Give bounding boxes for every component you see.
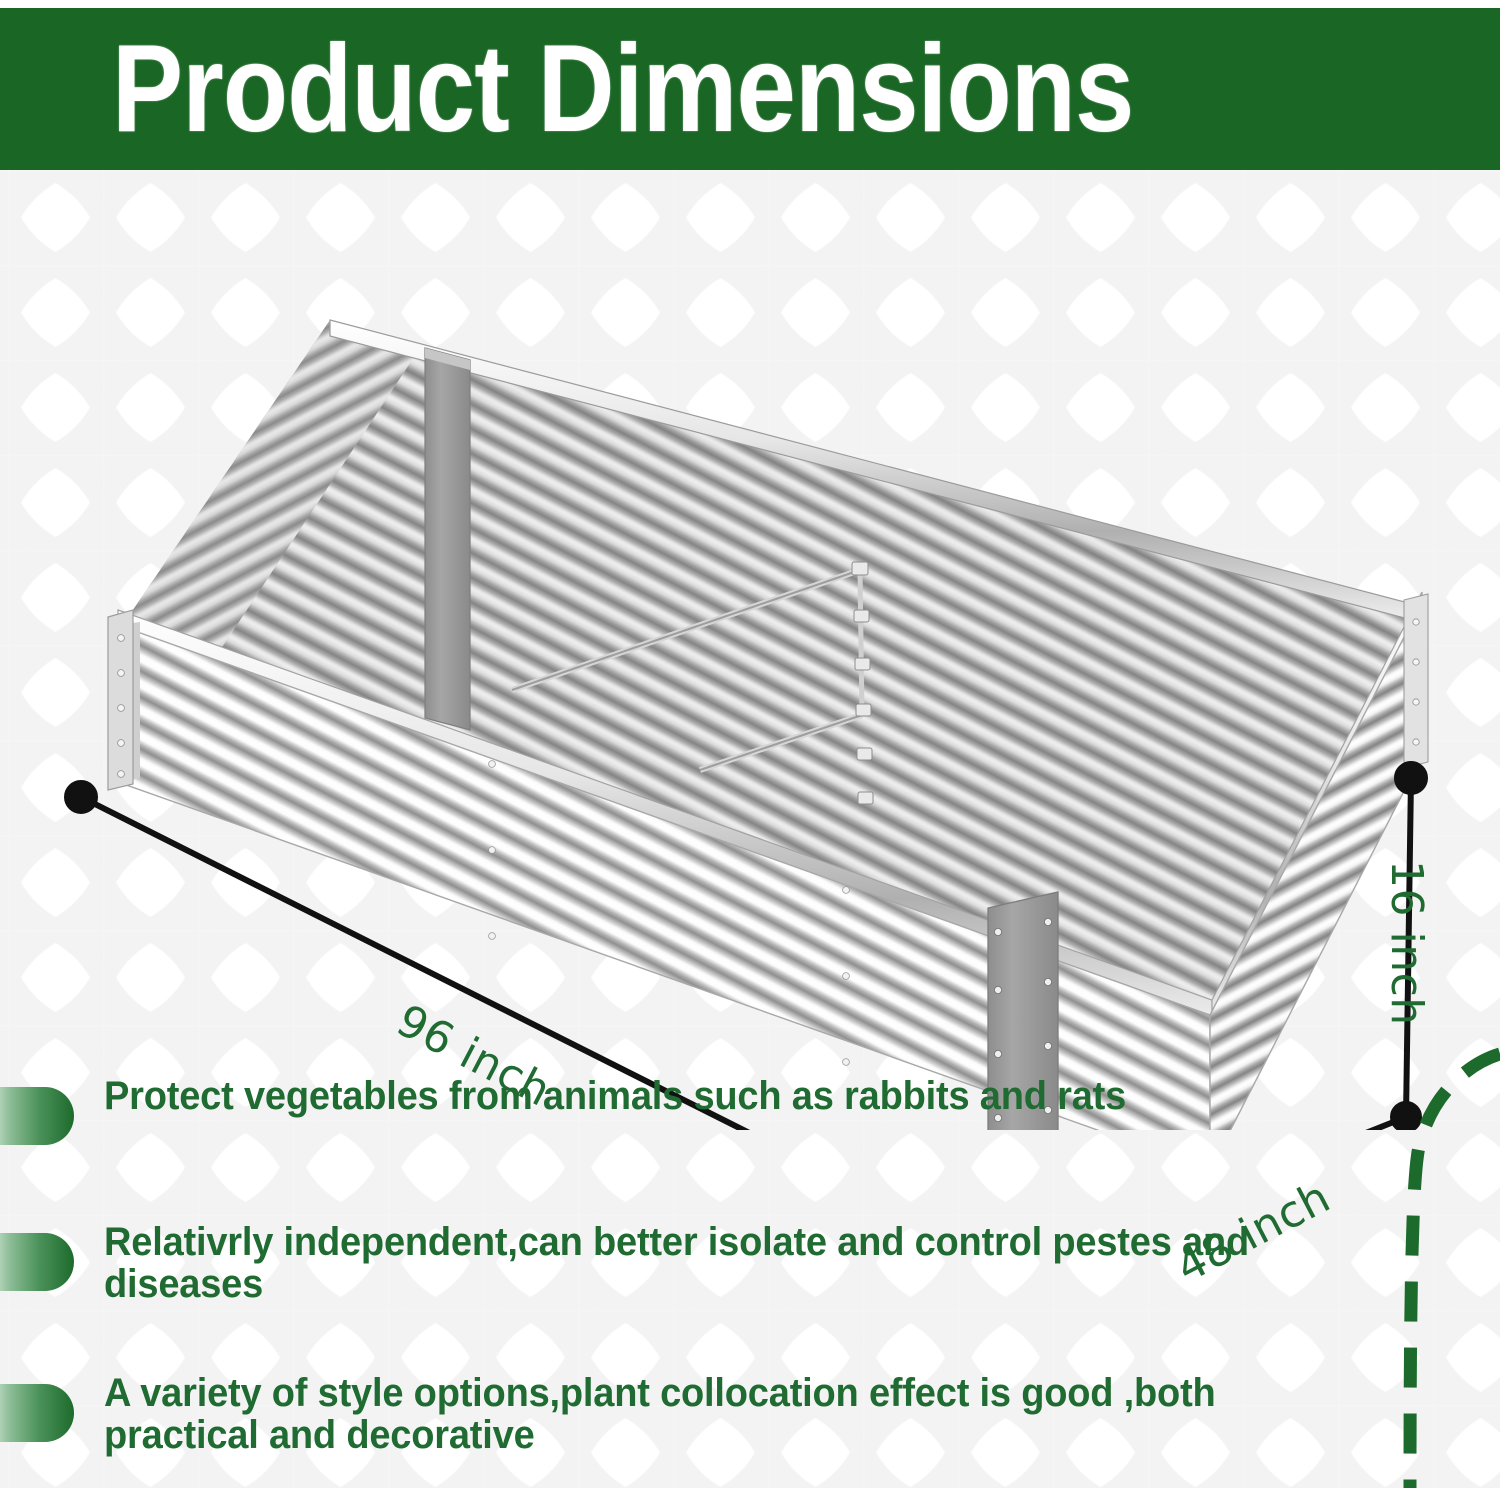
feature-text-3: A variety of style options,plant colloca… [104, 1372, 1326, 1457]
left-corner-post [108, 610, 133, 790]
product-dimensions-infographic: Product Dimensions [0, 0, 1500, 1488]
raised-garden-bed-drawing [0, 170, 1500, 1130]
header-banner: Product Dimensions [0, 8, 1500, 170]
dimension-label-height: 16 inch [1381, 860, 1432, 1026]
bullet-marker-icon [0, 1087, 74, 1145]
dimension-endpoint-length-start [67, 783, 95, 811]
feature-text-1: Protect vegetables from animals such as … [104, 1075, 1326, 1117]
feature-item-2: Relativrly independent,can better isolat… [0, 1221, 1390, 1306]
feature-item-1: Protect vegetables from animals such as … [0, 1075, 1390, 1155]
center-support-post [425, 348, 470, 730]
feature-list: Protect vegetables from animals such as … [0, 1075, 1390, 1488]
bullet-marker-icon [0, 1233, 74, 1291]
product-illustration: 96 inch 48 inch 16 inch [0, 170, 1500, 1130]
bullet-marker-icon [0, 1384, 74, 1442]
dimension-endpoint-height-top [1397, 764, 1425, 792]
feature-item-3: A variety of style options,plant colloca… [0, 1372, 1390, 1457]
page-title: Product Dimensions [112, 27, 1133, 151]
right-corner-post [1404, 594, 1428, 768]
feature-text-2: Relativrly independent,can better isolat… [104, 1221, 1326, 1306]
